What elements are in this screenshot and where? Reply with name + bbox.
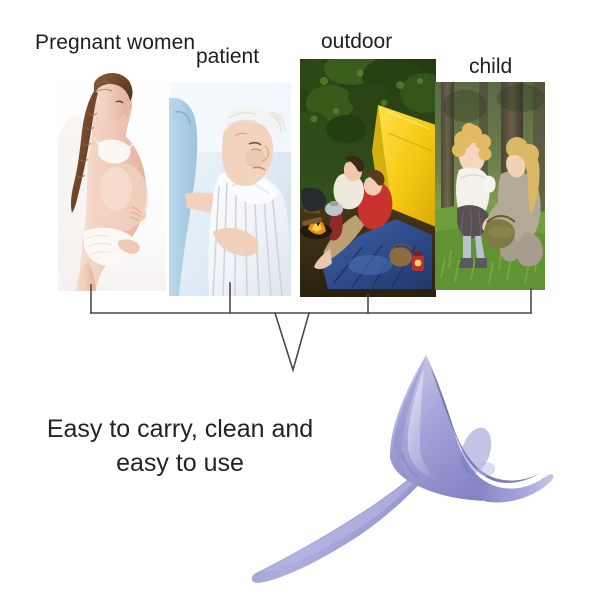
- product-funnel: [240, 345, 570, 595]
- label-pregnant-women: Pregnant women: [35, 31, 195, 55]
- photo-child-illustration: [435, 82, 545, 290]
- photo-pregnant-illustration: [58, 55, 166, 291]
- photo-child: [435, 82, 545, 290]
- label-outdoor: outdoor: [321, 30, 392, 54]
- funnel-inner-glint: [477, 462, 495, 476]
- infographic-canvas: Pregnant women patient outdoor child Eas…: [0, 0, 600, 600]
- photo-pregnant-women: [58, 55, 166, 291]
- photo-patient-illustration: [169, 82, 291, 296]
- photo-outdoor-illustration: [300, 59, 436, 297]
- photo-outdoor: [300, 59, 436, 297]
- photo-patient: [169, 82, 291, 296]
- label-child: child: [469, 55, 512, 79]
- label-patient: patient: [196, 45, 259, 69]
